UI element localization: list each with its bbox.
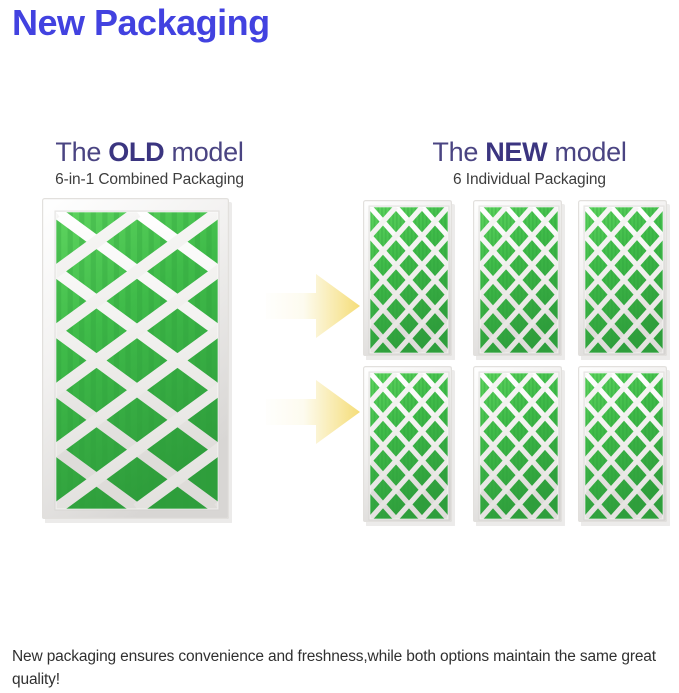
new-model-heading: The NEW model (392, 138, 667, 166)
new-packaging-filter-image-1 (363, 200, 455, 360)
new-packaging-filter-image-3 (578, 200, 670, 360)
new-packaging-filter-image-5 (473, 366, 565, 526)
new-packaging-filter-image-4 (363, 366, 455, 526)
page-title: New Packaging (12, 2, 270, 44)
new-heading-prefix: The (432, 137, 485, 167)
new-heading-emphasis: NEW (485, 137, 547, 167)
new-packaging-filter-image-2 (473, 200, 565, 360)
old-model-heading: The OLD model (12, 138, 287, 166)
new-model-subtitle: 6 Individual Packaging (392, 171, 667, 189)
new-model-heading-block: The NEW model 6 Individual Packaging (392, 138, 667, 189)
arrow-right-icon (266, 270, 362, 342)
old-model-subtitle: 6-in-1 Combined Packaging (12, 171, 287, 189)
new-heading-suffix: model (547, 137, 626, 167)
old-model-heading-block: The OLD model 6-in-1 Combined Packaging (12, 138, 287, 189)
old-heading-prefix: The (55, 137, 108, 167)
old-heading-emphasis: OLD (108, 137, 164, 167)
new-packaging-filter-image-6 (578, 366, 670, 526)
caption-text: New packaging ensures convenience and fr… (12, 645, 672, 692)
arrow-right-icon (266, 376, 362, 448)
old-heading-suffix: model (164, 137, 243, 167)
old-packaging-filter-image (42, 198, 232, 523)
